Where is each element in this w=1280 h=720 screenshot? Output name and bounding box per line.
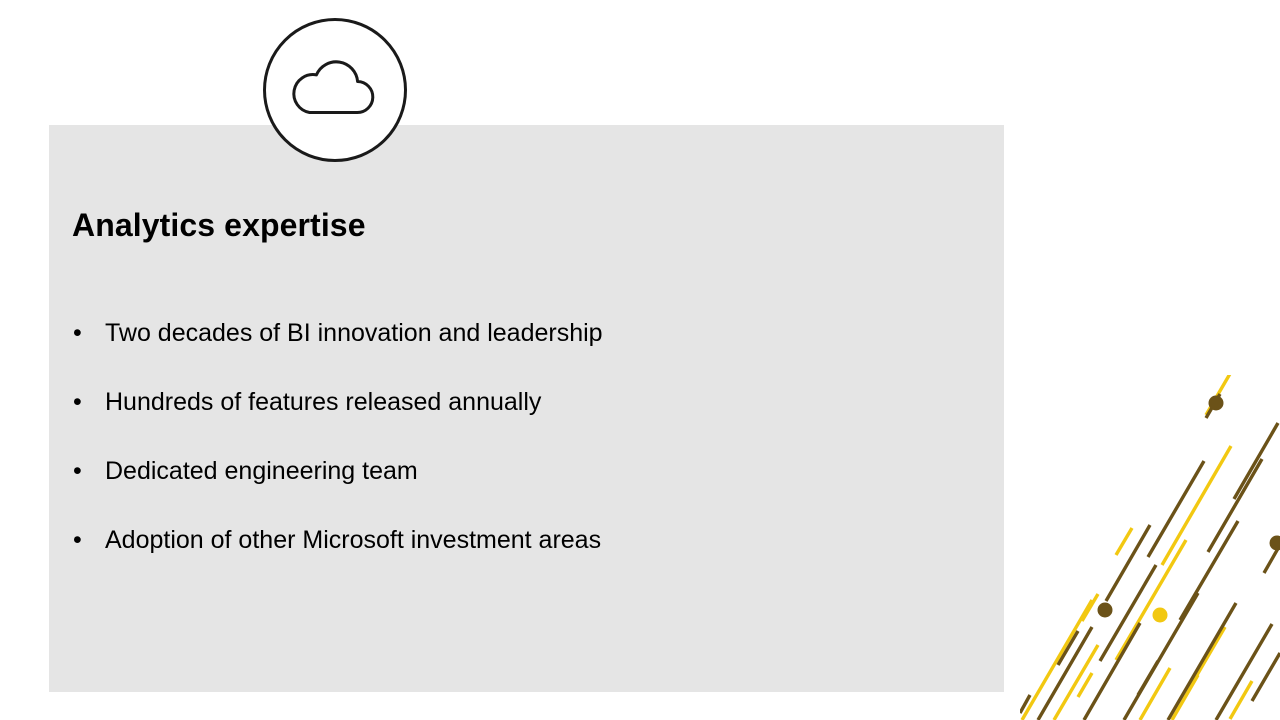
cloud-badge	[262, 17, 408, 163]
list-item-label: Adoption of other Microsoft investment a…	[105, 526, 601, 554]
bullet-marker: •	[73, 456, 82, 486]
bullet-marker: •	[73, 387, 82, 417]
bullet-marker: •	[73, 525, 82, 555]
diagonal-lines-motif	[1020, 375, 1280, 720]
list-item: • Two decades of BI innovation and leade…	[72, 318, 603, 387]
list-item-label: Hundreds of features released annually	[105, 388, 541, 416]
list-item-label: Dedicated engineering team	[105, 457, 418, 485]
page-title: Analytics expertise	[72, 207, 366, 244]
slide-canvas: Analytics expertise • Two decades of BI …	[0, 0, 1280, 720]
list-item: • Adoption of other Microsoft investment…	[72, 525, 603, 594]
list-item-label: Two decades of BI innovation and leaders…	[105, 319, 603, 347]
bullet-marker: •	[73, 318, 82, 348]
list-item: • Dedicated engineering team	[72, 456, 603, 525]
list-item: • Hundreds of features released annually	[72, 387, 603, 456]
bullet-list: • Two decades of BI innovation and leade…	[72, 318, 603, 594]
